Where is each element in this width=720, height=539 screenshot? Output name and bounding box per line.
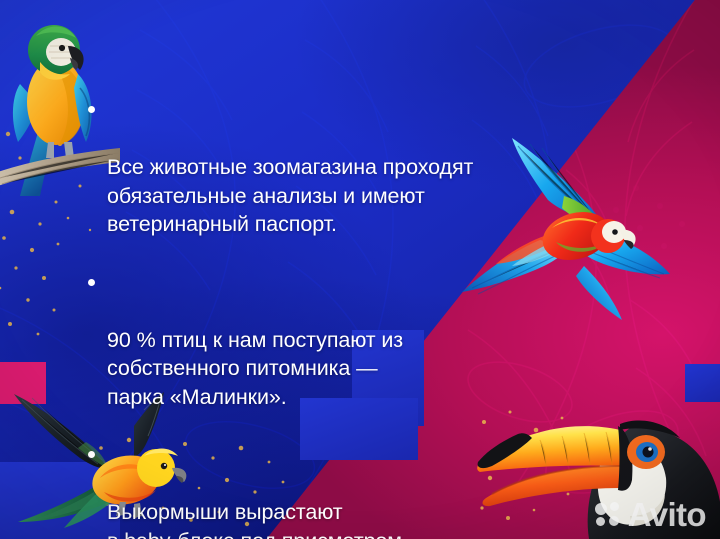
bullet-list: Все животные зоомагазина проходят обязат… — [88, 96, 528, 539]
bullet-dot-icon — [88, 106, 95, 113]
bullet-text: Все животные зоомагазина проходят обязат… — [107, 155, 473, 236]
avito-brand-label: Avito — [628, 498, 706, 531]
bullet-content-block: Все животные зоомагазина проходят обязат… — [88, 96, 528, 539]
avito-logo-icon — [595, 502, 621, 528]
list-item: Выкормыши вырастают в baby-блоке под при… — [88, 441, 528, 539]
list-item: 90 % птиц к нам поступают из собственног… — [88, 269, 528, 412]
bullet-dot-icon — [88, 451, 95, 458]
bullet-text: 90 % птиц к нам поступают из собственног… — [107, 328, 403, 409]
bullet-dot-icon — [88, 279, 95, 286]
list-item: Все животные зоомагазина проходят обязат… — [88, 96, 528, 239]
bullet-text: Выкормыши вырастают в baby-блоке под при… — [107, 500, 402, 539]
promo-banner: Все животные зоомагазина проходят обязат… — [0, 0, 720, 539]
avito-watermark: Avito — [595, 498, 706, 531]
